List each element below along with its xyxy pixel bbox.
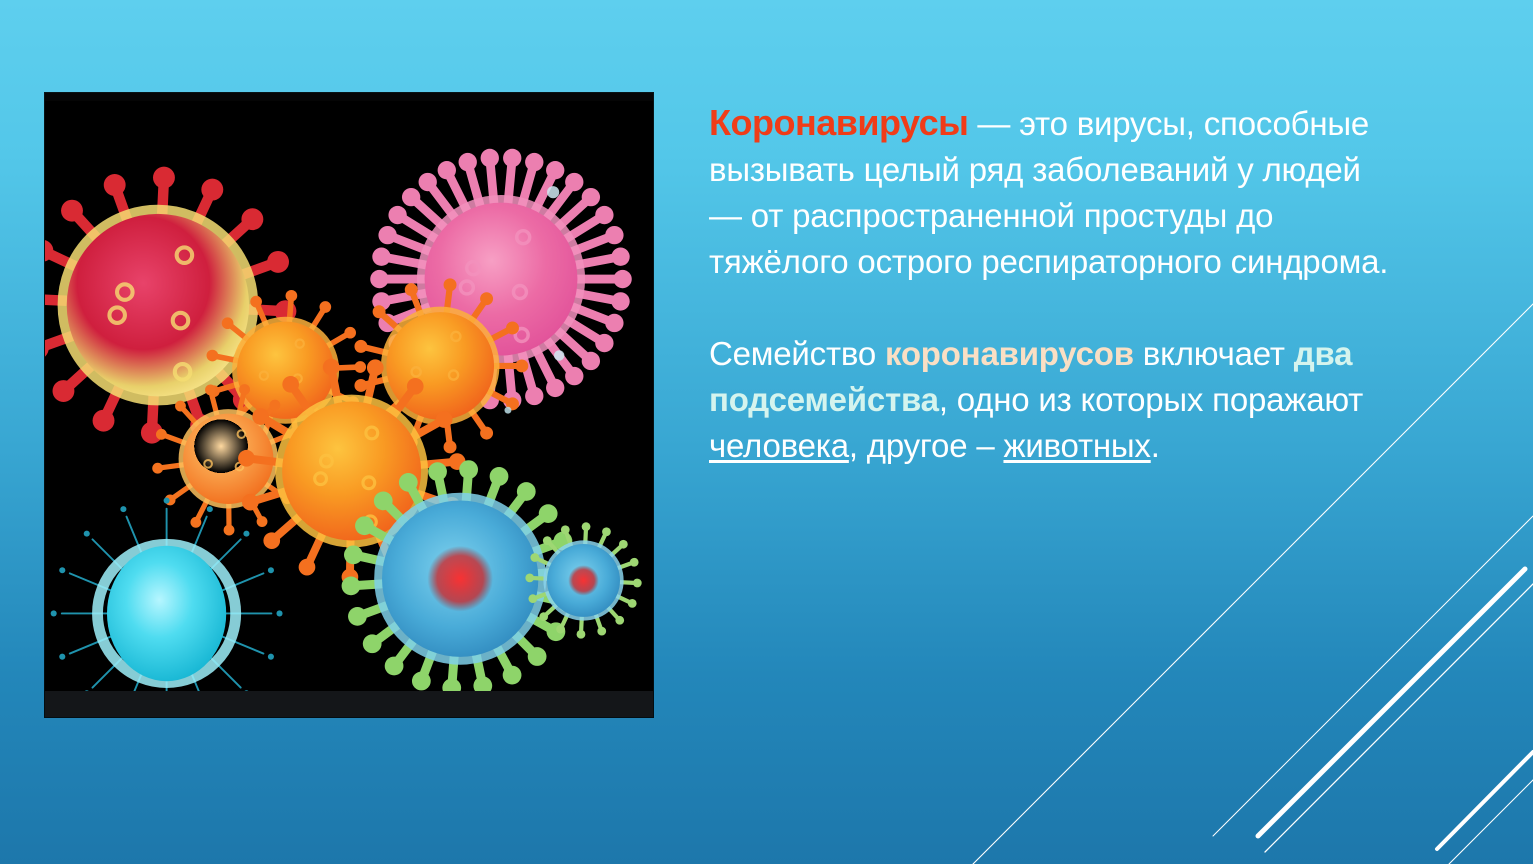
text-one-of-which: , одно из которых поражают [939,381,1363,418]
keyword-coronaviruses-title: Коронавирусы [709,102,968,143]
background-speckle [547,186,559,198]
coronavirus-illustration-image [45,93,653,717]
text-the-other: , другое – [849,427,1004,464]
text-includes: включает [1134,335,1294,372]
link-animals[interactable]: животных [1003,427,1150,464]
background-speckle [504,407,511,414]
virus-body [107,546,226,681]
link-human[interactable]: человека [709,427,849,464]
keyword-coronaviruses-inline: коронавирусов [885,335,1134,372]
slide-text-column: Коронавирусы — это вирусы, способные выз… [709,100,1399,469]
background-speckle [554,350,564,360]
text-family-prefix: Семейство [709,335,885,372]
photo-bottom-strip [45,691,653,717]
photo-canvas [45,93,653,717]
text-final-period: . [1151,427,1160,464]
paragraph-family: Семейство коронавирусов включает два под… [709,331,1399,469]
virus-inner-core [568,565,599,596]
paragraph-definition: Коронавирусы — это вирусы, способные выз… [709,100,1399,285]
virus-particles-svg [45,93,653,717]
virus-inner-core [427,546,493,612]
virus-body [67,214,249,396]
presentation-slide: Коронавирусы — это вирусы, способные выз… [0,0,1533,864]
